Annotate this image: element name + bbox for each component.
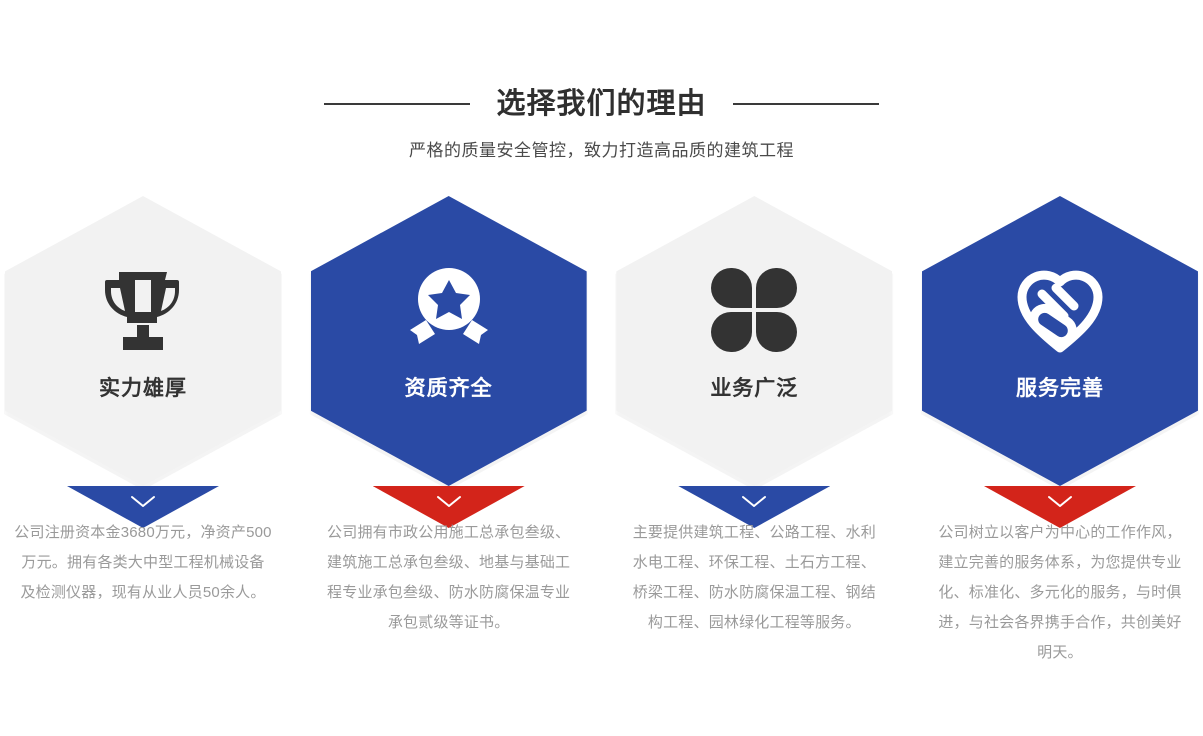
section-subtitle: 严格的质量安全管控，致力打造高品质的建筑工程: [0, 138, 1203, 164]
advantage-card-qualification[interactable]: 资质齐全: [306, 196, 592, 496]
card-description: 公司注册资本金3680万元，净资产500万元。拥有各类大中型工程机械设备及检测仪…: [0, 518, 286, 608]
section-heading: 选择我们的理由 严格的质量安全管控，致力打造高品质的建筑工程: [0, 84, 1203, 164]
chevron-down-icon: [436, 495, 462, 509]
advantages-section: 选择我们的理由 严格的质量安全管控，致力打造高品质的建筑工程: [0, 0, 1203, 736]
chevron-down-icon: [1047, 495, 1073, 509]
hexagon-wrapper: 业务广泛: [611, 196, 897, 496]
heading-rule-right: [733, 103, 879, 105]
advantage-card-list: 实力雄厚: [0, 196, 1203, 496]
card-title: 实力雄厚: [99, 374, 187, 404]
card-title: 资质齐全: [405, 374, 493, 404]
card-title: 业务广泛: [710, 374, 798, 404]
heading-rule-left: [324, 103, 470, 105]
hexagon-content: 业务广泛: [611, 196, 897, 486]
advantage-card-service[interactable]: 服务完善: [917, 196, 1203, 496]
heading-row: 选择我们的理由: [0, 84, 1203, 124]
hexagon-content: 实力雄厚: [0, 196, 286, 486]
chevron-down-icon: [741, 495, 767, 509]
page-title: 选择我们的理由: [496, 84, 706, 124]
hexagon-content: 服务完善: [917, 196, 1203, 486]
card-description: 主要提供建筑工程、公路工程、水利水电工程、环保工程、土石方工程、桥梁工程、防水防…: [611, 518, 897, 638]
card-description: 公司树立以客户为中心的工作作风，建立完善的服务体系，为您提供专业化、标准化、多元…: [917, 518, 1203, 668]
handshake-heart-icon: [1008, 258, 1112, 362]
advantage-card-business-scope[interactable]: 业务广泛: [611, 196, 897, 496]
chevron-down-icon: [130, 495, 156, 509]
advantage-card-strength[interactable]: 实力雄厚: [0, 196, 286, 496]
hexagon-wrapper: 资质齐全: [306, 196, 592, 496]
advantage-description-list: 公司注册资本金3680万元，净资产500万元。拥有各类大中型工程机械设备及检测仪…: [0, 518, 1203, 668]
four-petal-clover-icon: [702, 258, 806, 362]
hexagon-content: 资质齐全: [306, 196, 592, 486]
trophy-icon: [91, 258, 195, 362]
hexagon-wrapper: 实力雄厚: [0, 196, 286, 496]
card-description: 公司拥有市政公用施工总承包叁级、建筑施工总承包叁级、地基与基础工程专业承包叁级、…: [306, 518, 592, 638]
medal-star-icon: [397, 258, 501, 362]
hexagon-wrapper: 服务完善: [917, 196, 1203, 496]
card-title: 服务完善: [1016, 374, 1104, 404]
